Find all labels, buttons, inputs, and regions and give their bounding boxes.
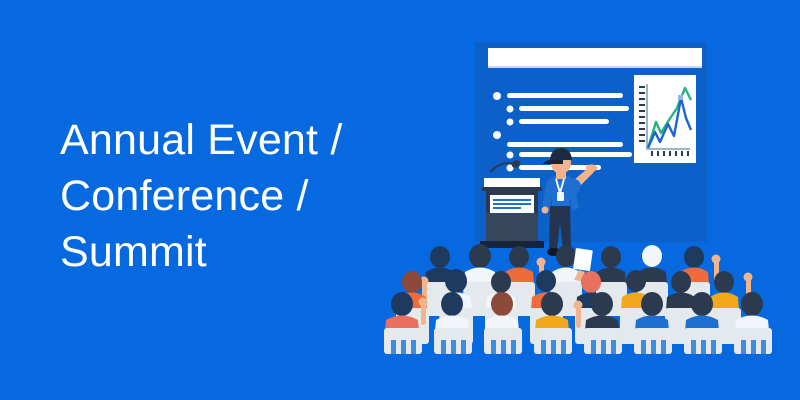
bullet-line [519,152,632,157]
audience-chair [684,328,722,354]
event-banner: Annual Event / Conference / Summit [0,0,800,400]
bullet-dot [493,131,501,139]
audience-group [384,244,772,354]
audience-chair [734,328,772,354]
slide-header-bar [488,48,702,68]
audience-chair [584,328,622,354]
audience-chair [434,328,472,354]
bullet-dot [507,152,514,159]
bullet-line [507,93,623,98]
audience-chair [534,328,572,354]
paper-icon [573,248,593,271]
bullet-line [507,142,623,147]
conference-presentation-illustration [380,20,780,380]
bullet-line [519,119,609,124]
audience-chair [384,328,422,354]
page-title: Annual Event / Conference / Summit [60,112,400,280]
slide-line-chart [634,75,696,163]
badge [557,192,564,201]
bullet-dot [493,92,501,100]
audience-chair [634,328,672,354]
bullet-dot [507,119,514,126]
bullet-dot [507,106,514,113]
bullet-line [519,106,629,111]
audience-chair [484,328,522,354]
